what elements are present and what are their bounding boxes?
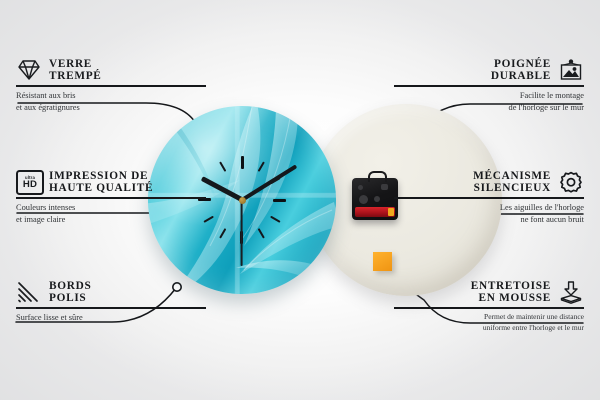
mechanism-detail (358, 185, 363, 190)
desc-line1: Couleurs intenses (16, 203, 75, 212)
clock-mechanism (352, 178, 398, 220)
feature-title-line2: HAUTE QUALITÉ (49, 182, 153, 194)
feature-header: VERRE TREMPÉ (16, 58, 206, 82)
feature-titles: POIGNÉE DURABLE (491, 58, 551, 82)
feature-title-line1: VERRE (49, 58, 102, 70)
desc-line1: Surface lisse et sûre (16, 313, 83, 322)
diamond-icon (16, 58, 42, 82)
desc-line1: Permet de maintenir une distance (484, 312, 584, 321)
mechanism-detail (374, 196, 380, 202)
feature-title-line1: ENTRETOISE (471, 280, 551, 292)
feature-mecanisme-silencieux: MÉCANISME SILENCIEUX Les aiguilles de l'… (394, 170, 584, 225)
mechanism-detail (381, 184, 388, 190)
mechanism-detail (359, 195, 368, 204)
feature-titles: IMPRESSION DE HAUTE QUALITÉ (49, 170, 153, 194)
divider (16, 85, 206, 87)
desc-line2: uniforme entre l'horloge et le mur (483, 323, 584, 332)
feature-title-line2: POLIS (49, 292, 91, 304)
divider (394, 197, 584, 199)
gear-icon (558, 170, 584, 194)
desc-line1: Résistant aux bris (16, 91, 76, 100)
feature-description: Couleurs intenses et image claire (16, 202, 206, 225)
feature-description: Résistant aux bris et aux égratignures (16, 90, 206, 113)
feature-verre-trempe: VERRE TREMPÉ Résistant aux bris et aux é… (16, 58, 206, 113)
foam-spacer-icon (558, 280, 584, 304)
feature-description: Les aiguilles de l'horloge ne font aucun… (394, 202, 584, 225)
feature-title-line2: SILENCIEUX (473, 182, 551, 194)
divider (394, 85, 584, 87)
feature-title-line2: EN MOUSSE (471, 292, 551, 304)
divider (394, 307, 584, 309)
feature-header: BORDS POLIS (16, 280, 206, 304)
divider (16, 307, 206, 309)
second-hand (241, 200, 243, 266)
feature-titles: BORDS POLIS (49, 280, 91, 304)
desc-line1: Les aiguilles de l'horloge (500, 203, 584, 212)
polished-edges-icon (16, 280, 42, 304)
clock-battery (355, 207, 395, 217)
feature-bords-polis: BORDS POLIS Surface lisse et sûre (16, 280, 206, 324)
feature-title-line2: DURABLE (491, 70, 551, 82)
feature-description: Facilite le montage de l'horloge sur le … (394, 90, 584, 113)
ultra-hd-icon: ultra HD (16, 170, 42, 194)
desc-line1: Facilite le montage (520, 91, 584, 100)
feature-description: Permet de maintenir une distance uniform… (394, 312, 584, 332)
feature-title-line1: POIGNÉE (491, 58, 551, 70)
feature-entretoise-en-mousse: ENTRETOISE EN MOUSSE Permet de maintenir… (394, 280, 584, 333)
feature-title-line1: BORDS (49, 280, 91, 292)
feature-header: ENTRETOISE EN MOUSSE (394, 280, 584, 304)
feature-description: Surface lisse et sûre (16, 312, 206, 323)
desc-line2: de l'horloge sur le mur (509, 103, 584, 112)
hd-icon-large-label: HD (23, 180, 37, 190)
infographic-canvas: VERRE TREMPÉ Résistant aux bris et aux é… (0, 0, 600, 400)
feature-impression-haute-qualite: ultra HD IMPRESSION DE HAUTE QUALITÉ Cou… (16, 170, 206, 225)
desc-line2: ne font aucun bruit (521, 215, 585, 224)
mechanism-hook (368, 171, 387, 182)
feature-titles: VERRE TREMPÉ (49, 58, 102, 82)
feature-header: MÉCANISME SILENCIEUX (394, 170, 584, 194)
feature-titles: MÉCANISME SILENCIEUX (473, 170, 551, 194)
feature-poignee-durable: POIGNÉE DURABLE Facilite le montage de l… (394, 58, 584, 113)
feature-title-line1: IMPRESSION DE (49, 170, 153, 182)
feature-header: POIGNÉE DURABLE (394, 58, 584, 82)
desc-line2: et aux égratignures (16, 103, 80, 112)
hand-center-cap (239, 197, 246, 204)
feature-title-line1: MÉCANISME (473, 170, 551, 182)
desc-line2: et image claire (16, 215, 65, 224)
feature-header: ultra HD IMPRESSION DE HAUTE QUALITÉ (16, 170, 206, 194)
feature-titles: ENTRETOISE EN MOUSSE (471, 280, 551, 304)
divider (16, 197, 206, 199)
foam-spacer-sample (373, 252, 392, 271)
feature-title-line2: TREMPÉ (49, 70, 102, 82)
picture-hanger-icon (558, 58, 584, 82)
